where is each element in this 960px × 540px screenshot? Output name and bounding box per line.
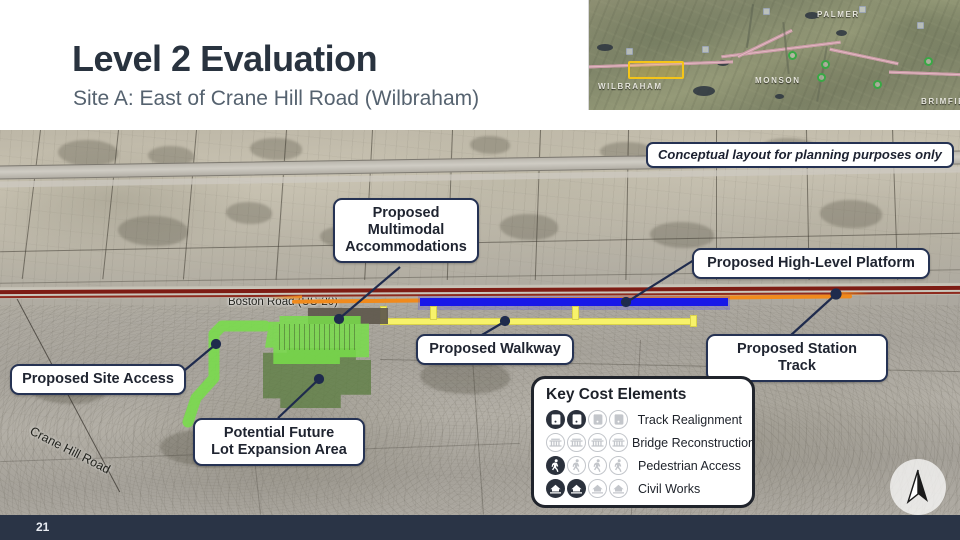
- slide-footer: [0, 515, 960, 540]
- bridge-icon: [567, 433, 586, 452]
- earthworks-icon: [546, 479, 565, 498]
- callout-site-access: Proposed Site Access: [10, 364, 186, 395]
- key-cost-row-civil-works: Civil Works: [546, 477, 742, 500]
- rating-icons: [546, 410, 634, 429]
- aerial-site-map: Boston Road (US-20) Crane Hill Road Twel…: [0, 130, 960, 515]
- pedestrian-icon: [546, 456, 565, 475]
- rating-icons: [546, 433, 628, 452]
- page-title: Level 2 Evaluation: [72, 40, 377, 78]
- inset-label-palmer: PALMER: [817, 10, 860, 19]
- inset-label-monson: MONSON: [755, 76, 801, 85]
- north-arrow-icon: [890, 459, 946, 515]
- callout-walkway: Proposed Walkway: [416, 334, 574, 365]
- key-cost-elements-title: Key Cost Elements: [546, 386, 742, 404]
- key-cost-label: Civil Works: [638, 482, 700, 496]
- slide: Level 2 Evaluation Site A: East of Crane…: [0, 0, 960, 540]
- key-cost-row-bridge-reconstruction: Bridge Reconstruction: [546, 431, 742, 454]
- pedestrian-icon: [609, 456, 628, 475]
- rail-car-icon: [567, 410, 586, 429]
- inset-water-bodies: [589, 0, 960, 110]
- callout-multimodal-accommodations: Proposed Multimodal Accommodations: [333, 198, 479, 263]
- key-cost-label: Pedestrian Access: [638, 459, 741, 473]
- callout-high-level-platform: Proposed High-Level Platform: [692, 248, 930, 279]
- rail-car-icon: [609, 410, 628, 429]
- rating-icons: [546, 456, 634, 475]
- key-cost-row-track-realignment: Track Realignment: [546, 408, 742, 431]
- proposed-site-access-road: [0, 130, 960, 515]
- regional-locator-map: WILBRAHAM PALMER MONSON BRIMFIELD: [588, 0, 960, 110]
- earthworks-icon: [588, 479, 607, 498]
- bridge-icon: [609, 433, 628, 452]
- key-cost-label: Track Realignment: [638, 413, 742, 427]
- pedestrian-icon: [588, 456, 607, 475]
- key-cost-row-pedestrian-access: Pedestrian Access: [546, 454, 742, 477]
- bridge-icon: [588, 433, 607, 452]
- pedestrian-icon: [567, 456, 586, 475]
- conceptual-layout-banner: Conceptual layout for planning purposes …: [646, 142, 954, 168]
- inset-label-brimfield: BRIMFIELD: [921, 97, 960, 106]
- rating-icons: [546, 479, 634, 498]
- page-subtitle: Site A: East of Crane Hill Road (Wilbrah…: [73, 87, 479, 110]
- key-cost-elements-panel: Key Cost Elements Track Realignment Brid…: [531, 376, 755, 508]
- earthworks-icon: [567, 479, 586, 498]
- earthworks-icon: [609, 479, 628, 498]
- bridge-icon: [546, 433, 565, 452]
- site-extent-highlight: [628, 61, 684, 79]
- callout-station-track: Proposed Station Track: [706, 334, 888, 382]
- rail-car-icon: [588, 410, 607, 429]
- key-cost-label: Bridge Reconstruction: [632, 436, 755, 450]
- callout-future-lot-expansion: Potential Future Lot Expansion Area: [193, 418, 365, 466]
- page-number: 21: [36, 520, 49, 534]
- inset-label-wilbraham: WILBRAHAM: [598, 82, 663, 91]
- rail-car-icon: [546, 410, 565, 429]
